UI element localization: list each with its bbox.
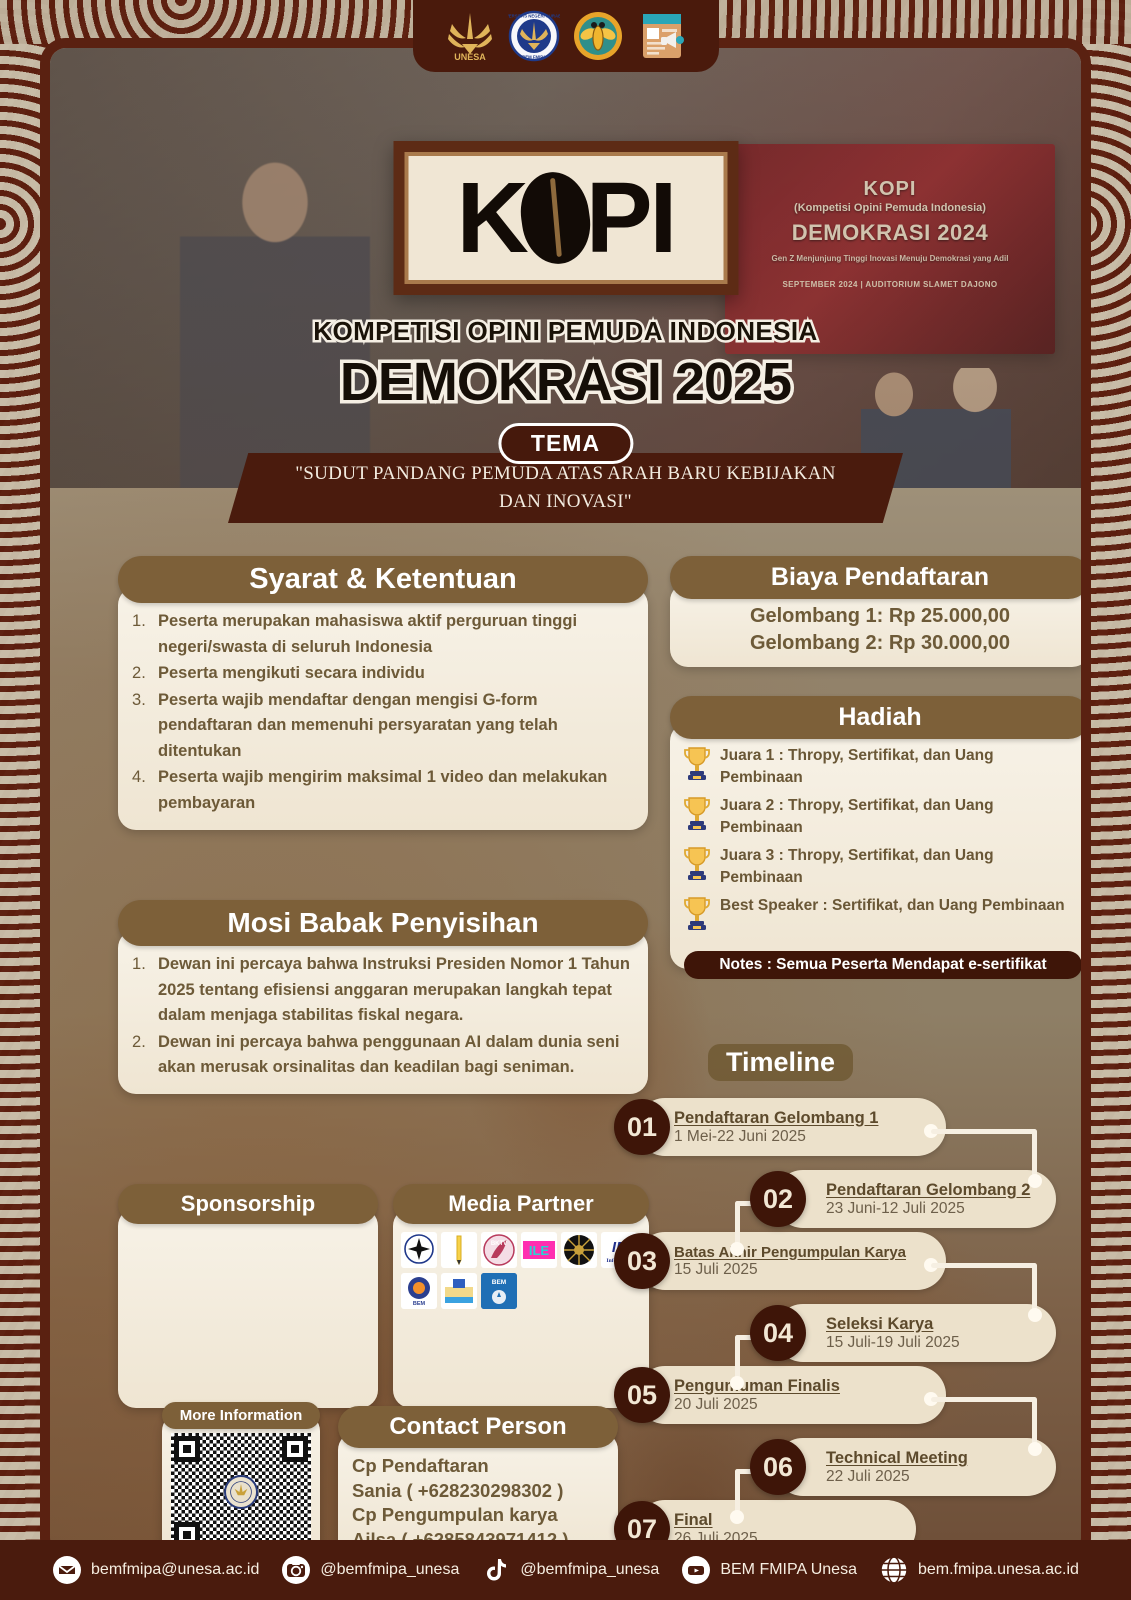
hadiah-body: Juara 1 : Thropy, Sertifikat, dan Uang P… [670,723,1081,969]
syarat-body: Peserta merupakan mahasiswa aktif pergur… [118,587,648,830]
notes-badge: Notes : Semua Peserta Mendapat e-sertifi… [684,951,1081,979]
media-partner-heading: Media Partner [393,1184,649,1224]
timeline-date: 15 Juli 2025 [674,1261,930,1279]
connector-dot [1028,1174,1042,1188]
mosi-heading: Mosi Babak Penyisihan [118,900,648,946]
footer-item-email[interactable]: bemfmipa@unesa.ac.id [52,1555,259,1585]
svg-text:BEM: BEM [492,1279,506,1286]
tema-label-pill: TEMA [498,423,633,464]
email-icon [52,1555,82,1585]
black-wheel-logo [561,1232,597,1268]
svg-text:BEM: BEM [413,1301,426,1307]
contact-person-body: Cp Pendaftaran Sania ( +628230298302 ) C… [338,1432,618,1554]
bem-vokasi-logo: BEM [401,1273,437,1309]
more-information-body [162,1413,320,1554]
timeline-pill: Pendaftaran Gelombang 1 1 Mei-22 Juni 20… [636,1098,946,1156]
footer-email-text: bemfmipa@unesa.ac.id [91,1561,259,1579]
hero-subtitle: KOMPETISI OPINI PEMUDA INDONESIA [50,316,1081,347]
timeline-connector-5-6 [924,1392,1044,1466]
list-item: Dewan ini percaya bahwa Instruksi Presid… [132,952,634,1029]
timeline-number: 05 [614,1367,670,1423]
prize-row: Juara 2 : Thropy, Sertifikat, dan Uang P… [682,795,1078,839]
footer-youtube-text: BEM FMIPA Unesa [720,1561,857,1579]
list-item: Peserta wajib mendaftar dengan mengisi G… [132,688,634,765]
trophy-icon [682,795,712,833]
trophy-icon [682,895,712,933]
hero-main-title: DEMOKRASI 2025 [50,351,1081,413]
mosi-body: Dewan ini percaya bahwa Instruksi Presid… [118,930,648,1094]
bktv-logo: BKTV [481,1232,517,1268]
contact-line-3: Cp Pengumpulan karya [352,1503,604,1528]
card-sponsorship: Sponsorship [118,1184,378,1408]
qr-finder-top-left [174,1436,200,1462]
timeline-item-01[interactable]: Pendaftaran Gelombang 1 1 Mei-22 Juni 20… [606,1098,946,1156]
timeline-list: Pendaftaran Gelombang 1 1 Mei-22 Juni 20… [606,1098,1056,1554]
bem-unesa-blue-logo: BEM [481,1273,517,1309]
connector-dot [730,1376,744,1390]
bem-fmipa-seal-logo: UNIVERSITAS NEGERI SURABAYABEM FMIPA [508,10,560,62]
connector-line-v [1032,1263,1037,1311]
timeline-date: 23 Juni-12 Juli 2025 [826,1200,1042,1218]
connector-dot [730,1510,744,1524]
card-media-partner: Media Partner BKTV ILE [393,1184,649,1408]
tiktok-icon [481,1555,511,1585]
list-item: Peserta merupakan mahasiswa aktif pergur… [132,609,634,660]
prize-label: Juara 3 : Thropy, Sertifikat, dan Uang P… [720,845,1078,889]
prize-row: Juara 1 : Thropy, Sertifikat, dan Uang P… [682,745,1078,789]
unesa-logo: UNESA [444,10,496,62]
hadiah-heading: Hadiah [670,696,1081,739]
more-information-heading: More Information [162,1402,320,1429]
syarat-heading: Syarat & Ketentuan [118,556,648,603]
list-item: Dewan ini percaya bahwa penggunaan AI da… [132,1030,634,1081]
timeline-title: Pendaftaran Gelombang 1 [674,1109,930,1128]
svg-text:UNESA: UNESA [454,52,486,62]
timeline-number: 03 [614,1233,670,1289]
instagram-icon [281,1555,311,1585]
connector-dot [1028,1308,1042,1322]
top-logo-bar: UNESA UNIVERSITAS NEGERI SURABAYABEM FMI… [413,0,719,72]
kopi-logo-inner: K PI [404,152,727,284]
sponsorship-body-empty [118,1208,378,1408]
list-item: Peserta mengikuti secara individu [132,661,634,687]
footer-instagram-text: @bemfmipa_unesa [320,1561,459,1579]
kopi-letter-k: K [457,177,526,259]
trophy-icon [682,845,712,883]
timeline-number: 01 [614,1099,670,1155]
poster-canvas: KOPI (Kompetisi Opini Pemuda Indonesia) … [50,48,1081,1554]
timeline-date: 15 Juli-19 Juli 2025 [826,1334,1042,1352]
timeline-number: 04 [750,1305,806,1361]
coffee-bean-icon [516,168,596,269]
poster-root: KOPI (Kompetisi Opini Pemuda Indonesia) … [0,0,1131,1600]
sponsorship-heading: Sponsorship [118,1184,378,1224]
footer-item-youtube[interactable]: BEM FMIPA Unesa [681,1555,857,1585]
timeline-date: 20 Juli 2025 [674,1396,930,1414]
svg-text:BKTV: BKTV [491,1241,507,1247]
card-contact-person: Contact Person Cp Pendaftaran Sania ( +6… [338,1406,618,1554]
prize-row: Best Speaker : Sertifikat, dan Uang Pemb… [682,895,1078,933]
connector-dot [730,1242,744,1256]
footer-website-text: bem.fmipa.unesa.ac.id [918,1561,1079,1579]
card-hadiah: Hadiah Juara 1 : Thropy, Sertifikat, dan… [670,696,1081,969]
kopi-bee-logo [572,10,624,62]
footer-item-instagram[interactable]: @bemfmipa_unesa [281,1555,459,1585]
media-partner-logo-grid: BKTV ILE IEInfo Event BEM [401,1232,641,1309]
card-mosi-babak-penyisihan: Mosi Babak Penyisihan Dewan ini percaya … [118,900,648,1094]
globe-icon [879,1555,909,1585]
connector-line-h [931,1263,1036,1268]
timeline-title: Batas Akhir Pengumpulan Karya [674,1244,930,1261]
biaya-heading: Biaya Pendaftaran [670,556,1081,599]
contact-person-heading: Contact Person [338,1406,618,1448]
kopi-letters-pi: PI [586,177,674,259]
card-biaya-pendaftaran: Biaya Pendaftaran Gelombang 1: Rp 25.000… [670,556,1081,667]
mosi-list: Dewan ini percaya bahwa Instruksi Presid… [132,952,634,1081]
biaya-line-2: Gelombang 2: Rp 30.000,00 [684,630,1076,657]
pencil-logo [441,1232,477,1268]
unesa-compass-logo [401,1232,437,1268]
kopi-wordmark: K PI [457,172,675,264]
kopi-logo-plate: K PI [393,141,738,295]
festival-banner-logo [441,1273,477,1309]
timeline-heading: Timeline [708,1044,853,1081]
syarat-list: Peserta merupakan mahasiswa aktif pergur… [132,609,634,817]
timeline-date: 1 Mei-22 Juni 2025 [674,1128,930,1146]
card-more-information: More Information [162,1402,320,1554]
connector-line-h [931,1397,1036,1402]
prize-label: Juara 2 : Thropy, Sertifikat, dan Uang P… [720,795,1078,839]
biaya-line-1: Gelombang 1: Rp 25.000,00 [684,603,1076,630]
connector-line-h [931,1129,1036,1134]
connector-line-v [735,1201,740,1245]
timeline-number: 06 [750,1439,806,1495]
connector-dot [1028,1442,1042,1456]
footer-bar: bemfmipa@unesa.ac.id @bemfmipa_unesa @be… [0,1540,1131,1600]
trophy-icon [682,745,712,783]
hero-titles: KOMPETISI OPINI PEMUDA INDONESIA DEMOKRA… [50,316,1081,413]
connector-line-v [1032,1129,1037,1177]
qr-finder-top-right [282,1436,308,1462]
card-syarat-ketentuan: Syarat & Ketentuan Peserta merupakan mah… [118,556,648,830]
prize-label: Juara 1 : Thropy, Sertifikat, dan Uang P… [720,745,1078,789]
footer-tiktok-text: @bemfmipa_unesa [520,1561,659,1579]
timeline-connector-1-2 [924,1124,1044,1198]
timeline-number: 02 [750,1171,806,1227]
contact-line-2: Sania ( +628230298302 ) [352,1479,604,1504]
prize-row: Juara 3 : Thropy, Sertifikat, dan Uang P… [682,845,1078,889]
media-partner-body: BKTV ILE IEInfo Event BEM [393,1208,649,1408]
footer-item-website[interactable]: bem.fmipa.unesa.ac.id [879,1555,1079,1585]
timeline-connector-3-4 [924,1258,1044,1332]
svg-text:BEM FMIPA: BEM FMIPA [522,55,546,60]
unesa-logo-in-qr [224,1475,258,1509]
connector-line-v [735,1469,740,1513]
svg-text:ILE: ILE [529,1243,550,1258]
svg-text:UNIVERSITAS NEGERI SURABAYA: UNIVERSITAS NEGERI SURABAYA [508,14,560,19]
youtube-icon [681,1555,711,1585]
tema-line-2: DAN INOVASI" [499,488,632,517]
footer-item-tiktok[interactable]: @bemfmipa_unesa [481,1555,659,1585]
qr-code-registration[interactable] [171,1433,311,1551]
prize-label: Best Speaker : Sertifikat, dan Uang Pemb… [720,895,1065,917]
ile-logo: ILE [521,1232,557,1268]
contact-line-1: Cp Pendaftaran [352,1454,604,1479]
list-item: Peserta wajib mengirim maksimal 1 video … [132,765,634,816]
connector-line-v [1032,1397,1037,1445]
timeline-date: 22 Juli 2025 [826,1468,1042,1486]
timeline-title: Pengumuman Finalis [674,1377,930,1396]
connector-line-v [735,1335,740,1379]
megaphone-announcement-logo [636,10,688,62]
